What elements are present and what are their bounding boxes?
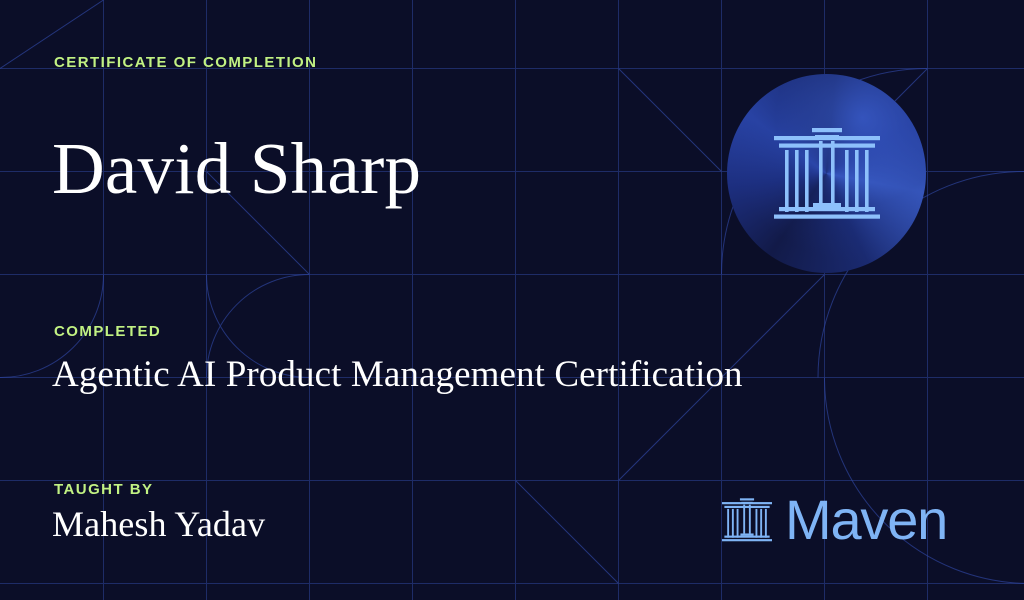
certificate-content: CERTIFICATE OF COMPLETION David Sharp CO… [0, 0, 1024, 600]
maven-wordmark-text: Maven [785, 492, 947, 548]
taught-by-eyebrow-label: TAUGHT BY [54, 482, 153, 497]
maven-pillars-icon [722, 495, 772, 545]
course-title: Agentic AI Product Management Certificat… [52, 356, 743, 393]
recipient-name: David Sharp [52, 132, 421, 205]
certificate-eyebrow-label: CERTIFICATE OF COMPLETION [54, 55, 317, 70]
certificate-card: CERTIFICATE OF COMPLETION David Sharp CO… [0, 0, 1024, 600]
maven-wordmark: Maven [722, 492, 947, 548]
instructor-name: Mahesh Yadav [52, 506, 265, 542]
completed-eyebrow-label: COMPLETED [54, 324, 161, 339]
maven-pillars-icon [774, 124, 880, 224]
certificate-badge [727, 74, 926, 273]
